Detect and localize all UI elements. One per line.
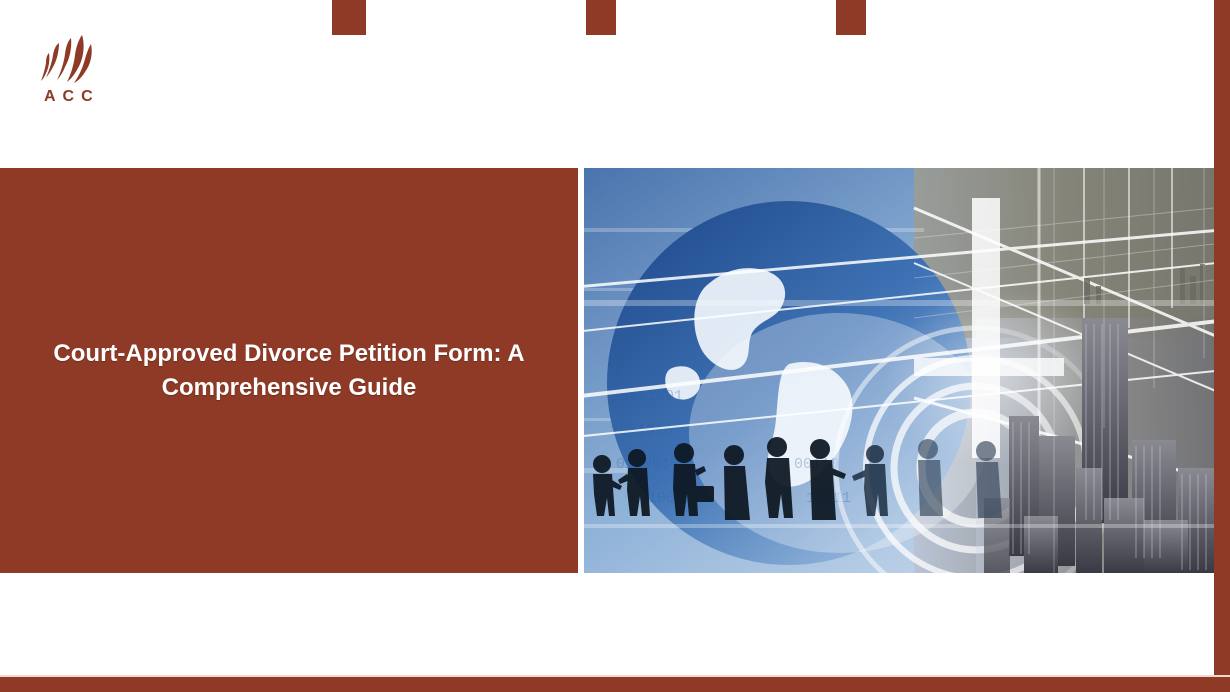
- vertical-accent-bar: [1214, 0, 1230, 692]
- brand-logo-text: ACC: [44, 89, 114, 105]
- accent-square-1: [332, 0, 366, 35]
- title-image-band: Court-Approved Divorce Petition Form: A …: [0, 168, 1214, 573]
- bottom-accent-bar: [0, 675, 1230, 692]
- slide-title: Court-Approved Divorce Petition Form: A …: [8, 337, 570, 403]
- slide-image: 0101001 1001010 0110010 1010011 00110 10…: [584, 168, 1214, 573]
- svg-text:0110010: 0110010: [616, 456, 679, 473]
- flame-feather-icon: [38, 34, 108, 86]
- accent-square-3: [836, 0, 866, 35]
- presentation-slide: ACC Court-Approved Divorce Petition Form…: [0, 0, 1230, 692]
- title-panel: Court-Approved Divorce Petition Form: A …: [0, 168, 578, 573]
- brand-logo: ACC: [38, 34, 114, 112]
- accent-square-2: [586, 0, 616, 35]
